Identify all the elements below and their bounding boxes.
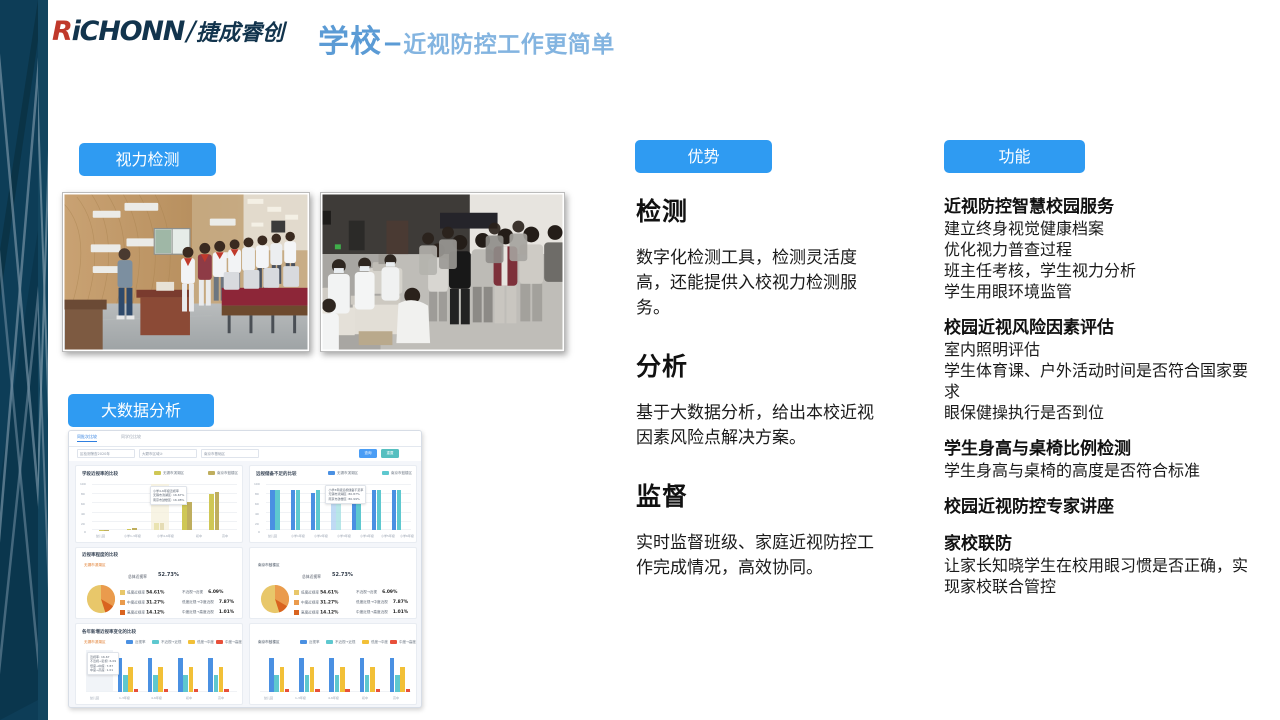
chart-2-total-value: 52.73% [158, 572, 179, 578]
chart-4-plot: 近视率: 16.67 不近视→近视: 6.09 低度→中度: 7.87 中度→高… [86, 650, 237, 692]
chart-1-xtick-4: 小学4年级 [360, 534, 374, 538]
chart-5-xtick-3: 初中 [362, 696, 368, 700]
pill-advantage: 优势 [635, 140, 772, 173]
advantage-block-1: 分析 基于大数据分析，给出本校近视因素风险点解决方案。 [636, 347, 886, 451]
chart-5-legend-2: 低度→中度 [362, 640, 388, 645]
logo-divider: / [184, 16, 196, 47]
function-item-1-0: 室内照明评估 [944, 339, 1254, 360]
dashboard-filter-bar[interactable]: 区检测筛查2020年 大颗市区域② 南京市基础区 查询 重置 [69, 447, 421, 461]
chart-3-total-value: 52.73% [332, 572, 353, 578]
functions-column: 近视防控智慧校园服务 建立终身视觉健康档案 优化视力普查过程 班主任考核，学生视… [944, 196, 1254, 597]
function-item-0-2: 班主任考核，学生视力分析 [944, 260, 1254, 281]
chart-1-xtick-1: 小学1年级 [291, 534, 305, 538]
function-heading-4: 家校联防 [944, 533, 1254, 555]
chart-4-tooltip: 近视率: 16.67 不近视→近视: 6.09 低度→中度: 7.87 中度→高… [87, 652, 119, 675]
chart-1-xtick-3: 小学3年级 [337, 534, 351, 538]
chart-0-ytick-0: 0 [84, 530, 86, 534]
function-item-0-1: 优化视力普查过程 [944, 239, 1254, 260]
chart-5-legend-0: 近视率 [300, 640, 320, 645]
chart-2-region: 无锡市滨湖区 [84, 563, 106, 568]
dashboard-screenshot[interactable]: 同批次比较 同学位比较 区检测筛查2020年 大颗市区域② 南京市基础区 查询 … [68, 430, 422, 708]
page-title-dash: – [382, 24, 403, 59]
band-line-pattern [0, 0, 38, 720]
dashboard-chart-card-5[interactable]: 南京市鼓楼区 近视率 不近视→近视 低度→中度 中度→高度 [249, 623, 417, 705]
function-heading-3: 校园近视防控专家讲座 [944, 496, 1254, 518]
chart-0-ytick-3: 60 [81, 502, 85, 506]
function-block-3: 校园近视防控专家讲座 [944, 496, 1254, 518]
chart-5-legend-1: 不近视→近视 [326, 640, 355, 645]
function-item-0-3: 学生用眼环境监管 [944, 281, 1254, 302]
advantage-body-0: 数字化检测工具，检测灵活度高，还能提供入校视力检测服务。 [636, 246, 886, 321]
chart-4-xtick-4: 高中 [218, 696, 224, 700]
chart-1-legend-1: 南京市鼓楼区 [382, 471, 412, 476]
chart-4-region: 无锡市滨湖区 [84, 640, 106, 645]
logo-chinese-name: 捷成睿创 [196, 21, 284, 46]
advantage-block-2: 监督 实时监督班级、家庭近视防控工作完成情况，高效协同。 [636, 477, 886, 581]
dashboard-tab-bar[interactable]: 同批次比较 同学位比较 [69, 431, 421, 447]
chart-2-legend-0: 低度近视率 54.61% [120, 590, 164, 596]
page-title-sub: 近视防控工作更简单 [403, 32, 615, 58]
chart-1-ytick-0: 0 [258, 530, 260, 534]
chart-1-ytick-3: 60 [255, 502, 259, 506]
chart-1-xtick-5: 小学5年级 [381, 534, 395, 538]
chart-1-ytick-2: 40 [255, 512, 259, 516]
function-item-1-2: 眼保健操执行是否到位 [944, 402, 1254, 423]
chart-0-ytick-4: 80 [81, 492, 85, 496]
function-block-1: 校园近视风险因素评估 室内照明评估 学生体育课、户外活动时间是否符合国家要求 眼… [944, 317, 1254, 423]
chart-0-xtick-3: 初中 [196, 534, 202, 538]
chart-1-tooltip: 小学3年级远视储备不足率 无锡市滨湖区: 80.87% 南京市鼓楼区: 80.9… [325, 485, 366, 504]
advantage-heading-0: 检测 [636, 192, 886, 228]
dashboard-reset-button[interactable]: 重置 [381, 449, 399, 458]
chart-2-pie [86, 584, 116, 614]
chart-0-xtick-1: 小学1-3年级 [124, 534, 141, 538]
chart-2-legend-2: 高度近视率 14.12% [120, 610, 164, 616]
function-item-1-1: 学生体育课、户外活动时间是否符合国家要求 [944, 360, 1254, 402]
left-decorative-band [0, 0, 38, 720]
photo-vision-screening-session [320, 192, 565, 352]
chart-0-legend-0: 无锡市滨湖区 [154, 471, 184, 476]
dashboard-filter-2[interactable]: 南京市基础区 [201, 449, 259, 458]
chart-3-legend-2: 高度近视率 14.12% [294, 610, 338, 616]
chart-4-legend-3: 中度→高度 [216, 640, 242, 645]
chart-1-legend-0: 无锡市滨湖区 [328, 471, 358, 476]
chart-1-ytick-4: 80 [255, 492, 259, 496]
dashboard-chart-card-1[interactable]: 远视储备不足的比较 无锡市滨湖区 南京市鼓楼区 [249, 465, 417, 543]
chart-0-legend-1: 南京市鼓楼区 [208, 471, 238, 476]
band-inner-lines [38, 0, 48, 720]
page-title: 学校–近视防控工作更简单 [318, 16, 615, 61]
photo-classroom-vision-test [62, 192, 310, 352]
advantage-body-2: 实时监督班级、家庭近视防控工作完成情况，高效协同。 [636, 531, 886, 581]
chart-0-ytick-5: 100 [80, 482, 86, 486]
chart-5-plot [260, 650, 411, 692]
chart-1-ytick-5: 100 [254, 482, 260, 486]
chart-0-tooltip: 小学4-6年级近视率 无锡市滨湖区: 16.67% 南京市鼓楼区: 16.98% [150, 486, 187, 505]
brand-logo: RiCHONN/捷成睿创 [52, 14, 280, 50]
function-heading-2: 学生身高与桌椅比例检测 [944, 438, 1254, 460]
dashboard-query-button[interactable]: 查询 [359, 449, 377, 458]
slide-root: RiCHONN/捷成睿创 学校–近视防控工作更简单 视力检测 大数据分析 优势 … [0, 0, 1280, 720]
chart-2-legend-1: 中度近视率 31.27% [120, 600, 164, 606]
chart-4-legend-2: 低度→中度 [188, 640, 214, 645]
chart-0-title: 学段近视率的比较 [82, 471, 118, 477]
chart-3-region: 南京市鼓楼区 [258, 563, 280, 568]
chart-1-xtick-2: 小学2年级 [314, 534, 328, 538]
chart-3-extra-2: 中度近视→高度近视 1.01% [356, 610, 408, 615]
function-block-2: 学生身高与桌椅比例检测 学生身高与桌椅的高度是否符合标准 [944, 438, 1254, 481]
advantage-heading-1: 分析 [636, 347, 886, 383]
chart-0-plot: 小学4-6年级近视率 无锡市滨湖区: 16.67% 南京市鼓楼区: 16.98% [92, 484, 237, 530]
function-block-4: 家校联防 让家长知晓学生在校用眼习惯是否正确，实现家校联合管控 [944, 533, 1254, 597]
function-item-0-0: 建立终身视觉健康档案 [944, 218, 1254, 239]
logo-wordmark: RiCHONN/捷成睿创 [52, 14, 280, 52]
advantage-block-0: 检测 数字化检测工具，检测灵活度高，还能提供入校视力检测服务。 [636, 192, 886, 321]
chart-1-title: 远视储备不足的比较 [256, 471, 297, 477]
chart-2-extra-2: 中度近视→高度近视 1.01% [182, 610, 234, 615]
chart-4-xtick-1: 1-3年级 [119, 696, 130, 700]
chart-5-legend-3: 中度→高度 [390, 640, 416, 645]
chart-5-xtick-0: 幼儿园 [264, 696, 273, 700]
chart-5-region: 南京市鼓楼区 [258, 640, 280, 645]
chart-3-total-label: 总体近视率 [302, 574, 321, 580]
page-title-main: 学校 [318, 24, 382, 60]
chart-5-xtick-2: 4-6年级 [328, 696, 339, 700]
chart-0-xtick-2: 小学4-6年级 [157, 534, 174, 538]
dashboard-chart-card-3[interactable]: 南京市鼓楼区 总体近视率 52.73% 低度近视率 54.61% 中度近视率 3… [249, 547, 417, 619]
band-inner-strip [38, 0, 48, 720]
chart-4-xtick-0: 幼儿园 [90, 696, 99, 700]
function-heading-0: 近视防控智慧校园服务 [944, 196, 1254, 218]
chart-5-xtick-4: 高中 [393, 696, 399, 700]
chart-4-title: 各年新增近视率变化的比较 [82, 629, 136, 635]
logo-initial: R [52, 16, 72, 47]
chart-0-ytick-2: 40 [81, 512, 85, 516]
chart-2-extra-0: 不近视→近视 6.09% [182, 590, 223, 595]
logo-latin-rest: iCHONN [72, 16, 185, 47]
dashboard-chart-card-2[interactable]: 近视率程度的比较 无锡市滨湖区 总体近视率 52.73% 低度近视率 54.61… [75, 547, 243, 619]
photo-classroom-illustration [63, 193, 309, 351]
advantages-column: 检测 数字化检测工具，检测灵活度高，还能提供入校视力检测服务。 分析 基于大数据… [636, 192, 886, 581]
chart-5-xtick-1: 1-3年级 [295, 696, 306, 700]
chart-4-xtick-2: 4-6年级 [151, 696, 162, 700]
pill-big-data-analysis: 大数据分析 [68, 394, 214, 427]
chart-1-plot: 小学3年级远视储备不足率 无锡市滨湖区: 80.87% 南京市鼓楼区: 80.9… [266, 484, 411, 530]
function-item-2-0: 学生身高与桌椅的高度是否符合标准 [944, 460, 1254, 481]
pill-function: 功能 [944, 140, 1085, 173]
function-block-0: 近视防控智慧校园服务 建立终身视觉健康档案 优化视力普查过程 班主任考核，学生视… [944, 196, 1254, 302]
function-item-4-0: 让家长知晓学生在校用眼习惯是否正确，实现家校联合管控 [944, 555, 1254, 597]
chart-3-pie [260, 584, 290, 614]
dashboard-tab-1[interactable]: 同学位比较 [121, 434, 141, 440]
chart-3-legend-1: 中度近视率 31.27% [294, 600, 338, 606]
chart-2-total-label: 总体近视率 [128, 574, 147, 580]
dashboard-tab-0[interactable]: 同批次比较 [77, 434, 97, 442]
dashboard-chart-card-0[interactable]: 学段近视率的比较 无锡市滨湖区 南京市鼓楼区 [75, 465, 243, 543]
chart-4-xtick-3: 初中 [186, 696, 192, 700]
chart-2-title: 近视率程度的比较 [82, 552, 118, 558]
advantage-body-1: 基于大数据分析，给出本校近视因素风险点解决方案。 [636, 401, 886, 451]
chart-3-extra-0: 不近视→近视 6.09% [356, 590, 397, 595]
chart-2-extra-1: 低度近视→中度近视 7.87% [182, 600, 234, 605]
chart-0-ytick-1: 20 [81, 522, 85, 526]
chart-1-xtick-6: 小学6年级 [400, 534, 414, 538]
advantage-heading-2: 监督 [636, 477, 886, 513]
photo-screening-illustration [321, 193, 564, 351]
chart-0-xtick-4: 高中 [222, 534, 228, 538]
chart-1-ytick-1: 20 [255, 522, 259, 526]
dashboard-filter-0[interactable]: 区检测筛查2020年 [77, 449, 135, 458]
chart-0-xtick-0: 幼儿园 [96, 534, 105, 538]
pill-vision-test: 视力检测 [79, 143, 216, 176]
chart-4-legend-0: 近视率 [126, 640, 146, 645]
dashboard-chart-card-4[interactable]: 各年新增近视率变化的比较 无锡市滨湖区 近视率 不近视→近视 低度→中度 中度→… [75, 623, 243, 705]
function-heading-1: 校园近视风险因素评估 [944, 317, 1254, 339]
chart-3-extra-1: 低度近视→中度近视 7.87% [356, 600, 408, 605]
chart-4-legend-1: 不近视→近视 [152, 640, 181, 645]
chart-1-xtick-0: 幼儿园 [268, 534, 277, 538]
dashboard-filter-1[interactable]: 大颗市区域② [139, 449, 197, 458]
chart-3-legend-0: 低度近视率 54.61% [294, 590, 338, 596]
